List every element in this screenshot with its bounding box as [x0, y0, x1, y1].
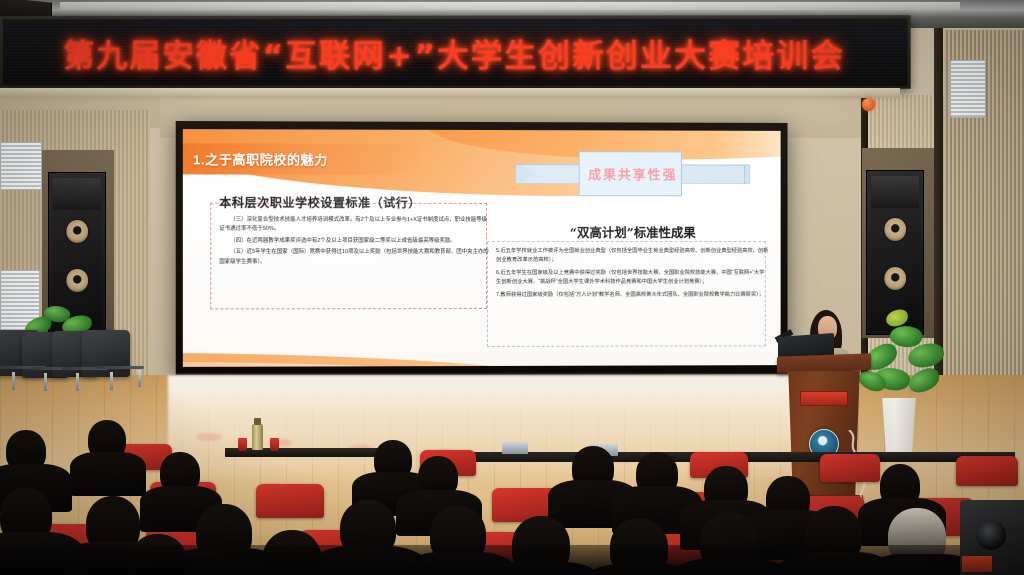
- lantern-icon: [862, 98, 875, 111]
- seat[interactable]: [820, 454, 880, 482]
- plant-bud-icon: [885, 308, 909, 328]
- led-panel: 第九届安徽省“互联网+”大学生创新创业大赛培训会: [3, 18, 908, 85]
- speaker-horn-icon: [871, 176, 918, 209]
- chair-leg: [76, 373, 79, 391]
- ac-vent-icon: [950, 60, 986, 118]
- right-panel-item: 7.教师获得过国家级奖励（仅包括“万人计划”教学名师、全国高校黄大年式团队、全国…: [496, 290, 769, 300]
- audience: [0, 400, 1024, 575]
- speaker-woofer-icon: [883, 266, 907, 292]
- ribbon-text: 成果共享性强: [520, 165, 745, 183]
- audience-shoulders: [70, 452, 146, 496]
- slide-ribbon-banner: 成果共享性强: [520, 151, 745, 196]
- plant-leaf-icon: [905, 365, 942, 396]
- left-panel-item: （五）近5年学生在国家（国际）竞赛中获得过10项及以上奖励（包括世界技能大赛和教…: [219, 248, 490, 267]
- ac-vent-icon: [0, 142, 42, 190]
- led-banner-text: 第九届安徽省“互联网+”大学生创新创业大赛培训会: [63, 29, 845, 75]
- speaker-woofer-icon: [65, 268, 89, 294]
- left-panel-title: 本科层次职业学校设置标准（试行）: [219, 193, 490, 210]
- right-panel-title: “双高计划”标准性成果: [496, 222, 769, 241]
- speaker-horn-icon: [53, 178, 100, 211]
- water-bottle-icon: [252, 424, 263, 450]
- projection-screen-frame: 1.之于高职院校的魅力 本科层次职业学校设置标准（试行） （三）深化复合型技术技…: [176, 121, 788, 376]
- auditorium-scene: 第九届安徽省“互联网+”大学生创新创业大赛培训会 1.之于高职院校的魅力 本科层…: [0, 0, 1024, 575]
- left-panel-item: （四）在近两届教学成果奖评选中有2个及以上项目获国家级二等奖以上或省级最高等级奖…: [219, 237, 490, 247]
- right-panel-item: 5.近五年学校就业工作被评为全国就业创业典型（仅包括全国毕业生就业典型经验高校、…: [496, 247, 769, 266]
- camera-lens-icon: [976, 520, 1006, 550]
- bottle-cap-icon: [254, 418, 261, 425]
- slide-left-panel: 本科层次职业学校设置标准（试行） （三）深化复合型技术技能人才培养培训模式改革。…: [219, 193, 490, 269]
- cup-icon: [238, 438, 247, 451]
- seat[interactable]: [956, 456, 1018, 486]
- projection-screen: 1.之于高职院校的魅力 本科层次职业学校设置标准（试行） （三）深化复合型技术技…: [183, 129, 781, 367]
- camera-body-accent: [962, 556, 992, 572]
- audience-laptop[interactable]: [502, 442, 528, 454]
- chair-leg: [12, 372, 15, 390]
- slide-right-panel: “双高计划”标准性成果 5.近五年学校就业工作被评为全国就业创业典型（仅包括全国…: [496, 222, 769, 303]
- slide-header-bar: 1.之于高职院校的魅力: [183, 143, 424, 174]
- seat[interactable]: [256, 484, 324, 518]
- left-panel-item: （三）深化复合型技术技能人才培养培训模式改革。有2个及以上专业参与1+X证书制度…: [219, 215, 490, 234]
- right-panel-item: 6.近五年学生在国家级及以上竞赛中获得过奖励（仅包括世界技能大赛、全国职业院校技…: [496, 269, 769, 288]
- chair-leg: [110, 372, 113, 390]
- right-panel-body: 5.近五年学校就业工作被评为全国就业创业典型（仅包括全国毕业生就业典型经验高校、…: [496, 247, 769, 300]
- led-banner: 第九届安徽省“互联网+”大学生创新创业大赛培训会: [0, 15, 911, 89]
- chair-leg: [138, 370, 141, 387]
- podium-top-surface: [777, 353, 871, 373]
- speaker-woofer-icon: [65, 219, 89, 245]
- chair-leg: [44, 373, 47, 391]
- audience-foreground-shadow: [0, 545, 1024, 575]
- slide-header-text: 1.之于高职院校的魅力: [193, 149, 328, 168]
- ceiling-light-strip: [60, 2, 960, 10]
- left-panel-body: （三）深化复合型技术技能人才培养培训模式改革。有2个及以上专业参与1+X证书制度…: [219, 215, 490, 267]
- cup-icon: [270, 438, 279, 451]
- banner-ledge: [0, 88, 900, 98]
- chair-armrest: [94, 366, 144, 369]
- speaker-woofer-icon: [883, 217, 907, 243]
